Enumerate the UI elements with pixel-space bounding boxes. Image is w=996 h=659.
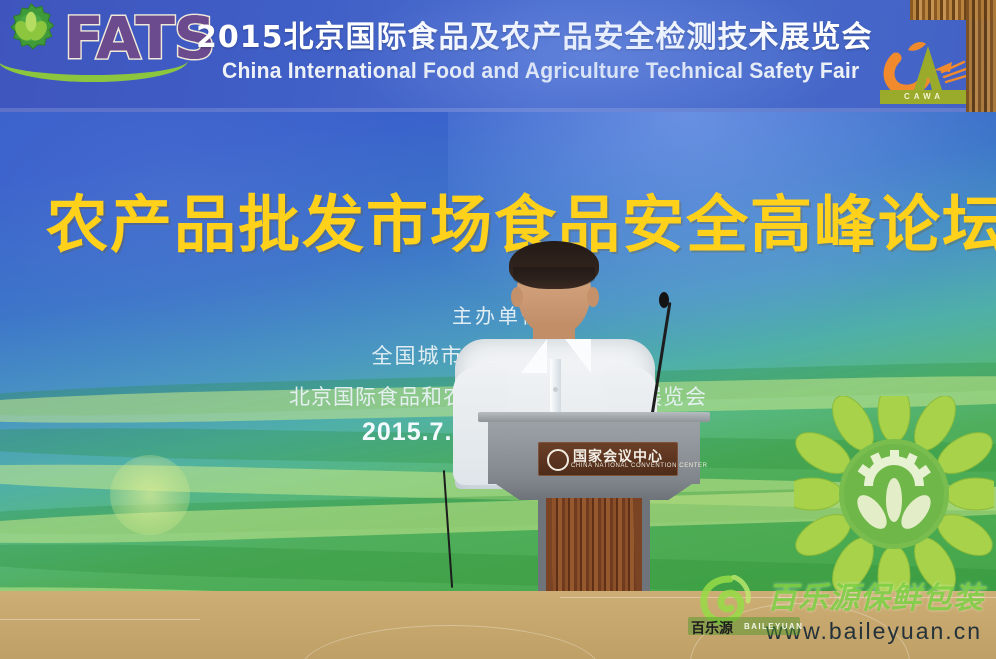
conference-photo: FATS FATS 2015北京国际食品及农产品安全检测技术展览会 China …: [0, 0, 996, 659]
speaker-ear-left: [511, 287, 523, 307]
banner-title-en: China International Food and Agriculture…: [222, 58, 859, 84]
banner-title-cn: 2015北京国际食品及农产品安全检测技术展览会: [196, 12, 873, 56]
backdrop-sun: [110, 455, 190, 535]
event-banner-header: FATS FATS 2015北京国际食品及农产品安全检测技术展览会 China …: [0, 0, 996, 112]
shirt-collar-left: [521, 339, 547, 373]
speaker-ear-right: [587, 287, 599, 307]
mountain-star-icon: [547, 449, 569, 471]
podium-front-panel: 国家会议中心 CHINA NATIONAL CONVENTION CENTER: [488, 422, 700, 484]
wall-wood-strip: [966, 0, 996, 112]
plaque-title-en: CHINA NATIONAL CONVENTION CENTER: [571, 463, 708, 469]
cawa-wordmark: CAWA: [878, 92, 970, 101]
speaker-hair: [509, 241, 599, 289]
cawa-logo: CAWA: [878, 28, 974, 108]
fats-logo: FATS FATS: [4, 0, 184, 102]
shirt-collar-right: [565, 339, 591, 373]
gear-leaf-icon: [2, 0, 60, 58]
watermark-logo: 百乐源 BAILEYUAN: [688, 617, 800, 637]
podium-top: [478, 412, 710, 422]
podium-plaque: 国家会议中心 CHINA NATIONAL CONVENTION CENTER: [538, 442, 678, 476]
sunflower-gear-leaf-logo: [794, 396, 994, 592]
sunflower-gear-icon: [794, 396, 994, 592]
watermark-logo-en: BAILEYUAN: [744, 622, 803, 631]
banner-edge: [0, 108, 996, 112]
watermark: 百乐源保鲜包装 www.baileyuan.cn 百乐源 BAILEYUAN: [690, 573, 990, 649]
microphone-head: [659, 292, 669, 308]
fats-swoosh: [0, 56, 188, 82]
watermark-logo-cn: 百乐源: [691, 618, 733, 638]
watermark-brand: 百乐源保鲜包装: [767, 573, 984, 617]
